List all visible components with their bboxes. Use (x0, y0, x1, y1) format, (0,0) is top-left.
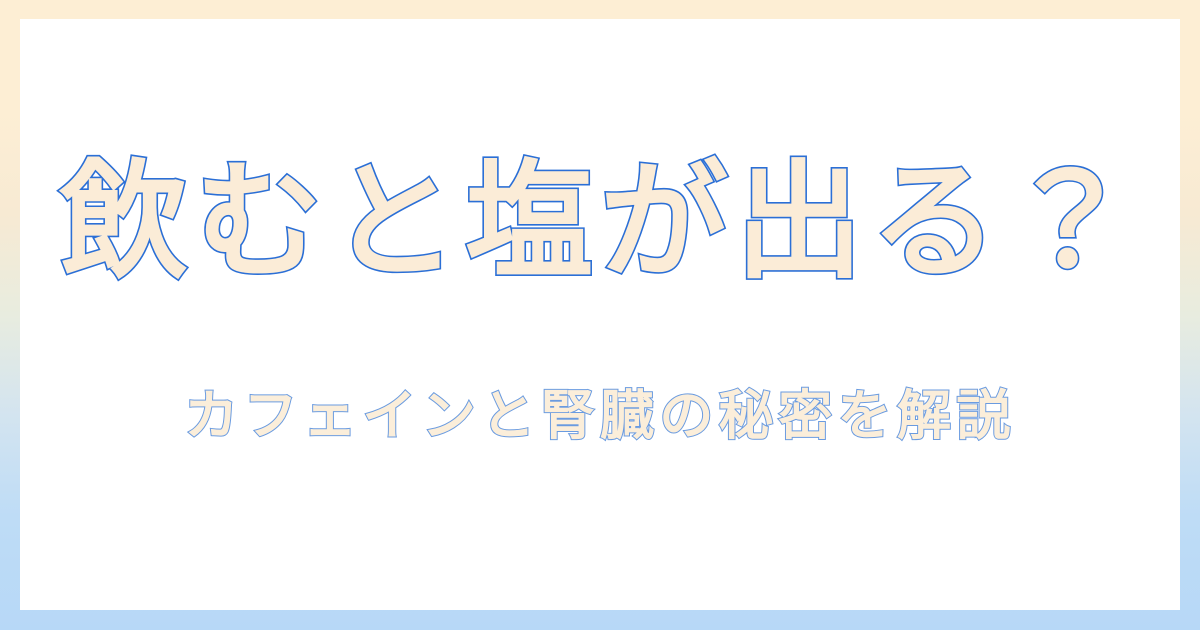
page-subtitle: カフェインと腎臓の秘密を解説 (184, 381, 1016, 451)
subtitle-container: カフェインと腎臓の秘密を解説 (20, 381, 1180, 451)
white-panel: 飲むと塩が出る？ カフェインと腎臓の秘密を解説 (20, 19, 1180, 610)
page-title: 飲むと塩が出る？ (60, 147, 1140, 298)
title-card: 飲むと塩が出る？ カフェインと腎臓の秘密を解説 (0, 0, 1200, 630)
title-container: 飲むと塩が出る？ (20, 147, 1180, 298)
